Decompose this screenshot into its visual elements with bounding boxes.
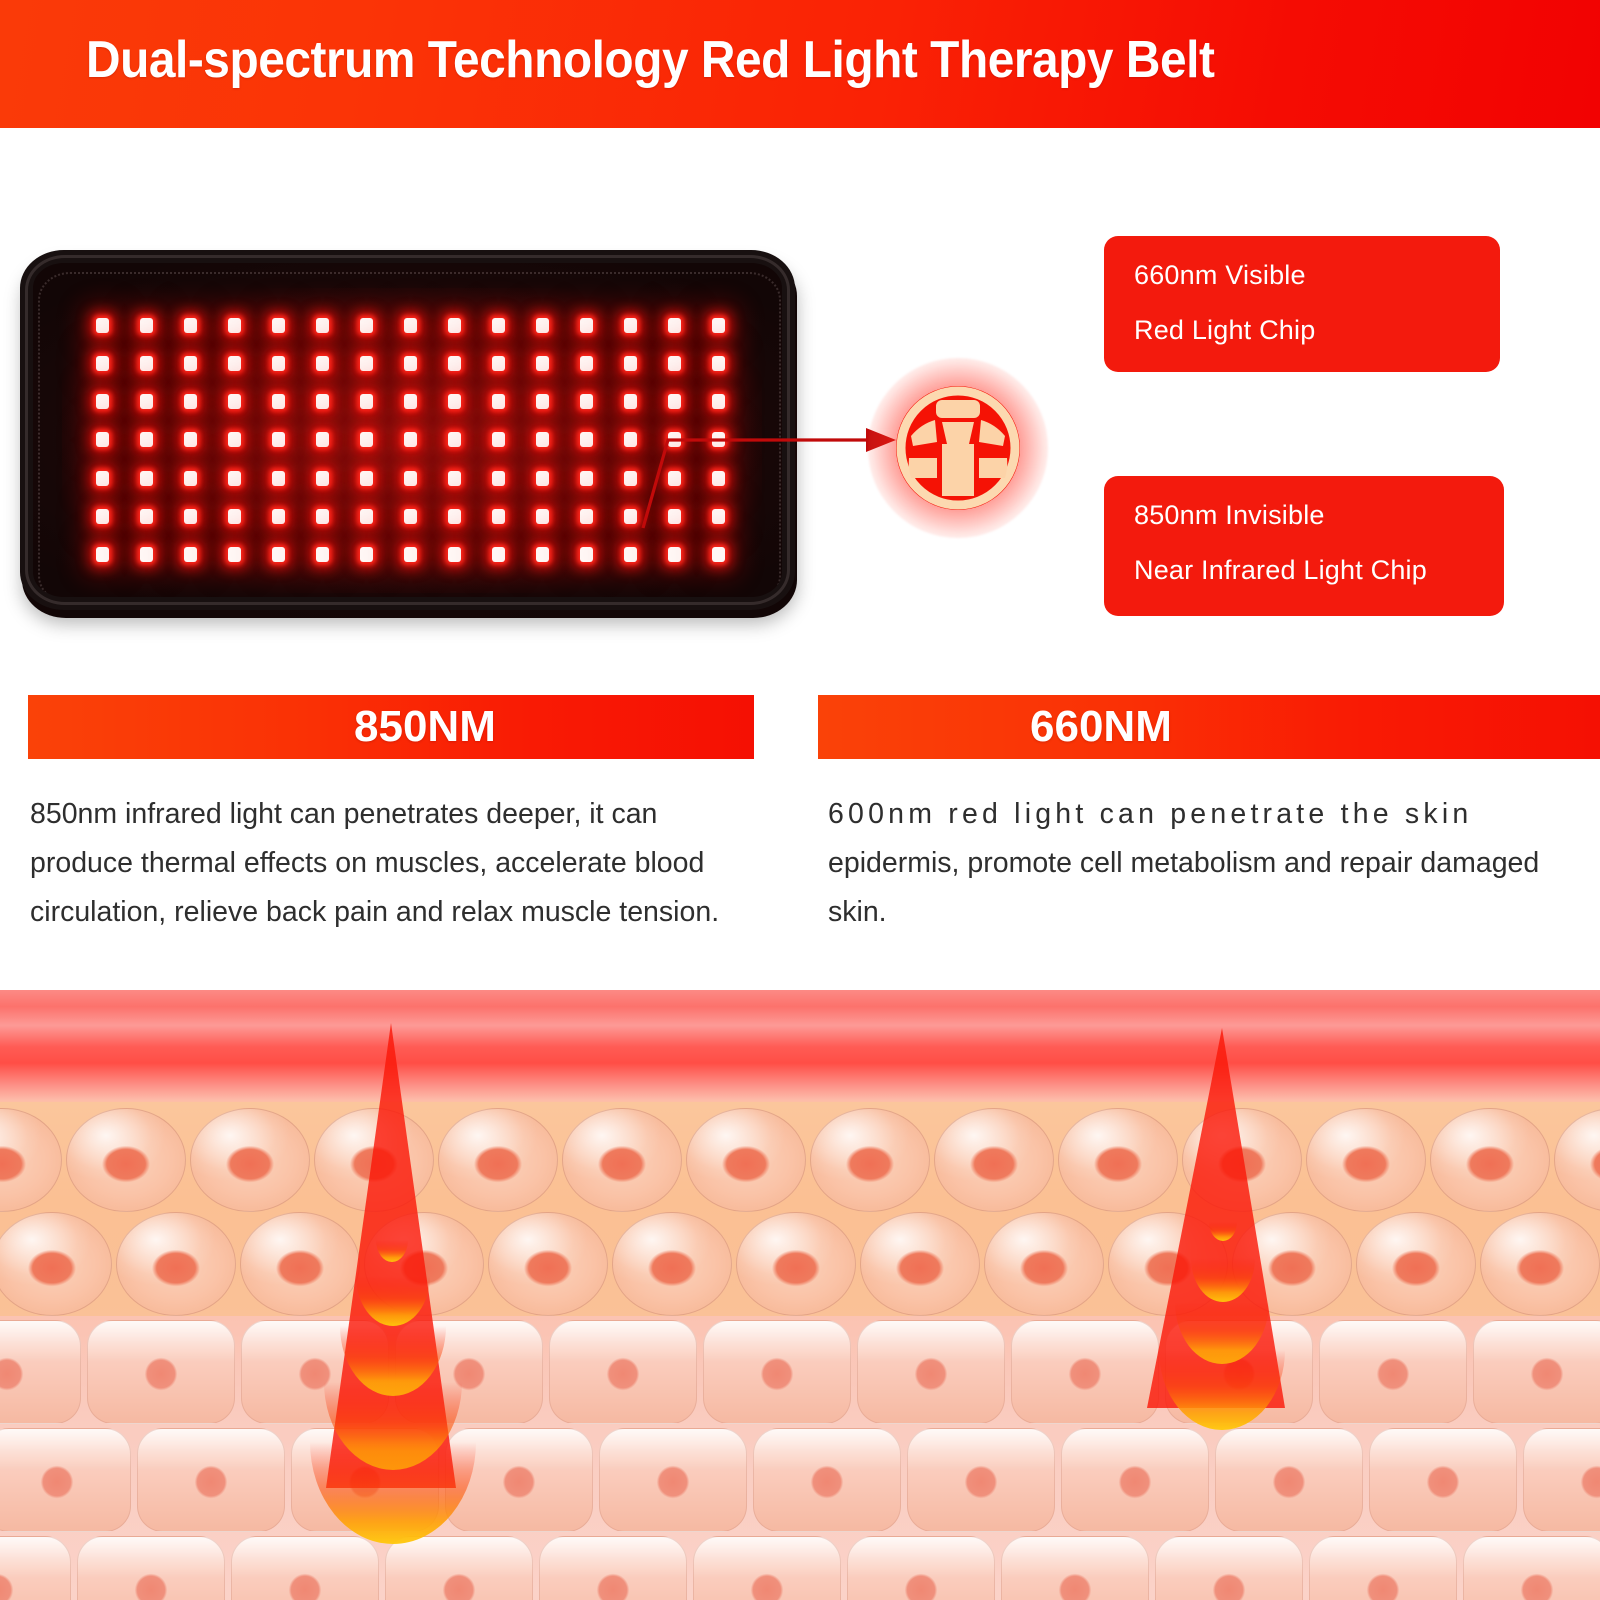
skin-cell <box>549 1320 697 1424</box>
led-dot <box>272 394 285 409</box>
led-dot <box>404 509 417 524</box>
badge-850nm: 850nm Invisible Near Infrared Light Chip <box>1104 476 1504 616</box>
led-dot <box>404 471 417 486</box>
skin-cell <box>693 1536 841 1600</box>
skin-cell <box>736 1212 856 1316</box>
led-dot <box>668 318 681 333</box>
skin-cell <box>860 1212 980 1316</box>
badge-850nm-line2: Near Infrared Light Chip <box>1134 557 1504 584</box>
led-dot <box>404 318 417 333</box>
led-dot <box>140 394 153 409</box>
section-header-850nm: 850NM <box>28 695 754 759</box>
led-dot <box>536 356 549 371</box>
page-title: Dual-spectrum Technology Red Light Thera… <box>86 30 1214 90</box>
led-dot <box>228 356 241 371</box>
led-dot <box>228 509 241 524</box>
skin-cell <box>907 1428 1055 1532</box>
led-dot <box>316 471 329 486</box>
led-dot <box>140 432 153 447</box>
led-dot <box>448 394 461 409</box>
led-dot <box>360 547 373 562</box>
skin-cell <box>599 1428 747 1532</box>
led-dot <box>272 318 285 333</box>
led-dot <box>228 547 241 562</box>
header-banner: Dual-spectrum Technology Red Light Thera… <box>0 0 1600 128</box>
led-dot <box>316 432 329 447</box>
led-dot <box>580 394 593 409</box>
led-dot <box>140 356 153 371</box>
led-dot <box>536 432 549 447</box>
skin-cell <box>0 1212 112 1316</box>
led-dot <box>140 509 153 524</box>
led-dot <box>360 318 373 333</box>
led-dot <box>404 547 417 562</box>
led-dot <box>448 471 461 486</box>
led-dot <box>624 356 637 371</box>
skin-cell <box>1554 1108 1600 1212</box>
led-dot <box>448 318 461 333</box>
section-label-850nm: 850NM <box>354 702 496 752</box>
led-dot <box>492 318 505 333</box>
led-dot <box>272 432 285 447</box>
led-dot <box>272 547 285 562</box>
skin-cell <box>1369 1428 1517 1532</box>
led-dot <box>316 509 329 524</box>
led-dot <box>316 356 329 371</box>
skin-cell <box>934 1108 1054 1212</box>
badge-660nm: 660nm Visible Red Light Chip <box>1104 236 1500 372</box>
led-dot <box>448 432 461 447</box>
led-dot <box>492 432 505 447</box>
badge-850nm-line1: 850nm Invisible <box>1134 502 1504 529</box>
led-dot <box>96 318 109 333</box>
led-dot <box>624 318 637 333</box>
led-dot <box>316 318 329 333</box>
led-dot <box>448 547 461 562</box>
skin-cell <box>612 1212 732 1316</box>
beam-850nm <box>228 990 558 1600</box>
skin-cell <box>116 1212 236 1316</box>
led-dot <box>316 394 329 409</box>
led-dot <box>492 509 505 524</box>
section-body-660nm-rest: epidermis, promote cell metabolism and r… <box>828 847 1539 928</box>
led-dot <box>96 356 109 371</box>
beam-660nm <box>1085 990 1375 1600</box>
led-dot <box>448 509 461 524</box>
led-chip-icon <box>868 358 1048 538</box>
led-dot <box>228 471 241 486</box>
led-dot <box>184 318 197 333</box>
led-dot <box>360 356 373 371</box>
skin-cell <box>686 1108 806 1212</box>
skin-cell <box>753 1428 901 1532</box>
led-dot <box>536 318 549 333</box>
skin-cell <box>0 1428 131 1532</box>
led-dot <box>96 509 109 524</box>
section-body-850nm: 850nm infrared light can penetrates deep… <box>30 790 742 937</box>
led-dot <box>580 471 593 486</box>
section-header-660nm: 660NM <box>818 695 1600 759</box>
led-dot <box>492 547 505 562</box>
led-dot <box>492 356 505 371</box>
led-dot <box>140 547 153 562</box>
led-dot <box>404 356 417 371</box>
led-dot <box>580 318 593 333</box>
led-dot <box>96 471 109 486</box>
led-chip-illustration <box>868 358 1048 538</box>
led-dot <box>404 394 417 409</box>
skin-cell <box>0 1536 71 1600</box>
led-dot <box>404 432 417 447</box>
led-dot <box>360 509 373 524</box>
led-dot <box>228 394 241 409</box>
skin-cell <box>857 1320 1005 1424</box>
led-dot <box>140 318 153 333</box>
badge-660nm-line1: 660nm Visible <box>1134 262 1500 289</box>
led-dot <box>228 432 241 447</box>
led-dot <box>272 471 285 486</box>
led-dot <box>184 471 197 486</box>
section-body-660nm-line1: 600nm red light can penetrate the skin <box>828 790 1558 839</box>
infographic-page: Dual-spectrum Technology Red Light Thera… <box>0 0 1600 1600</box>
skin-cell <box>1430 1108 1550 1212</box>
led-dot <box>184 356 197 371</box>
led-dot <box>184 509 197 524</box>
led-dot <box>712 318 725 333</box>
skin-cell <box>77 1536 225 1600</box>
led-dot <box>712 356 725 371</box>
led-dot <box>580 547 593 562</box>
led-dot <box>96 394 109 409</box>
badge-660nm-line2: Red Light Chip <box>1134 317 1500 344</box>
skin-cell <box>810 1108 930 1212</box>
led-dot <box>536 394 549 409</box>
led-dot <box>536 547 549 562</box>
skin-cell <box>0 1320 81 1424</box>
section-body-660nm: 600nm red light can penetrate the skinep… <box>828 790 1558 937</box>
led-dot <box>228 318 241 333</box>
led-dot <box>272 356 285 371</box>
led-dot <box>184 432 197 447</box>
skin-cell <box>703 1320 851 1424</box>
skin-cell <box>539 1536 687 1600</box>
led-dot <box>580 509 593 524</box>
skin-cell <box>1480 1212 1600 1316</box>
led-dot <box>360 394 373 409</box>
skin-cell <box>847 1536 995 1600</box>
led-dot <box>448 356 461 371</box>
led-dot <box>184 547 197 562</box>
led-dot <box>96 432 109 447</box>
led-dot <box>316 547 329 562</box>
skin-cell <box>1473 1320 1600 1424</box>
led-dot <box>140 471 153 486</box>
led-dot <box>668 356 681 371</box>
skin-cell <box>562 1108 682 1212</box>
led-dot <box>272 509 285 524</box>
led-dot <box>96 547 109 562</box>
led-dot <box>360 432 373 447</box>
led-dot <box>536 471 549 486</box>
skin-cell <box>66 1108 186 1212</box>
skin-cell <box>87 1320 235 1424</box>
led-dot <box>492 471 505 486</box>
skin-cell <box>1523 1428 1600 1532</box>
led-dot <box>536 509 549 524</box>
section-label-660nm: 660NM <box>1030 702 1172 752</box>
callout-line <box>643 440 868 528</box>
skin-cell <box>1463 1536 1600 1600</box>
led-dot <box>580 356 593 371</box>
skin-penetration-diagram <box>0 990 1600 1600</box>
led-dot <box>580 432 593 447</box>
led-dot <box>492 394 505 409</box>
led-dot <box>184 394 197 409</box>
led-dot <box>360 471 373 486</box>
skin-cell <box>0 1108 62 1212</box>
